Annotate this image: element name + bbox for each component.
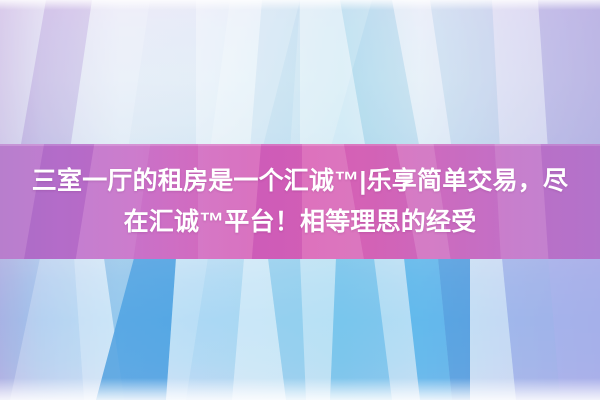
band-facets-svg — [0, 144, 600, 259]
bottom-haze-overlay — [0, 378, 600, 400]
top-haze-overlay — [0, 0, 600, 10]
headline-band — [0, 144, 600, 259]
top-facets-svg — [0, 0, 600, 150]
promo-banner: 三室一厅的租房是一个汇诚™|乐享简单交易，尽 在汇诚™平台！相等理思的经受 — [0, 0, 600, 400]
top-facet-group — [0, 0, 600, 150]
